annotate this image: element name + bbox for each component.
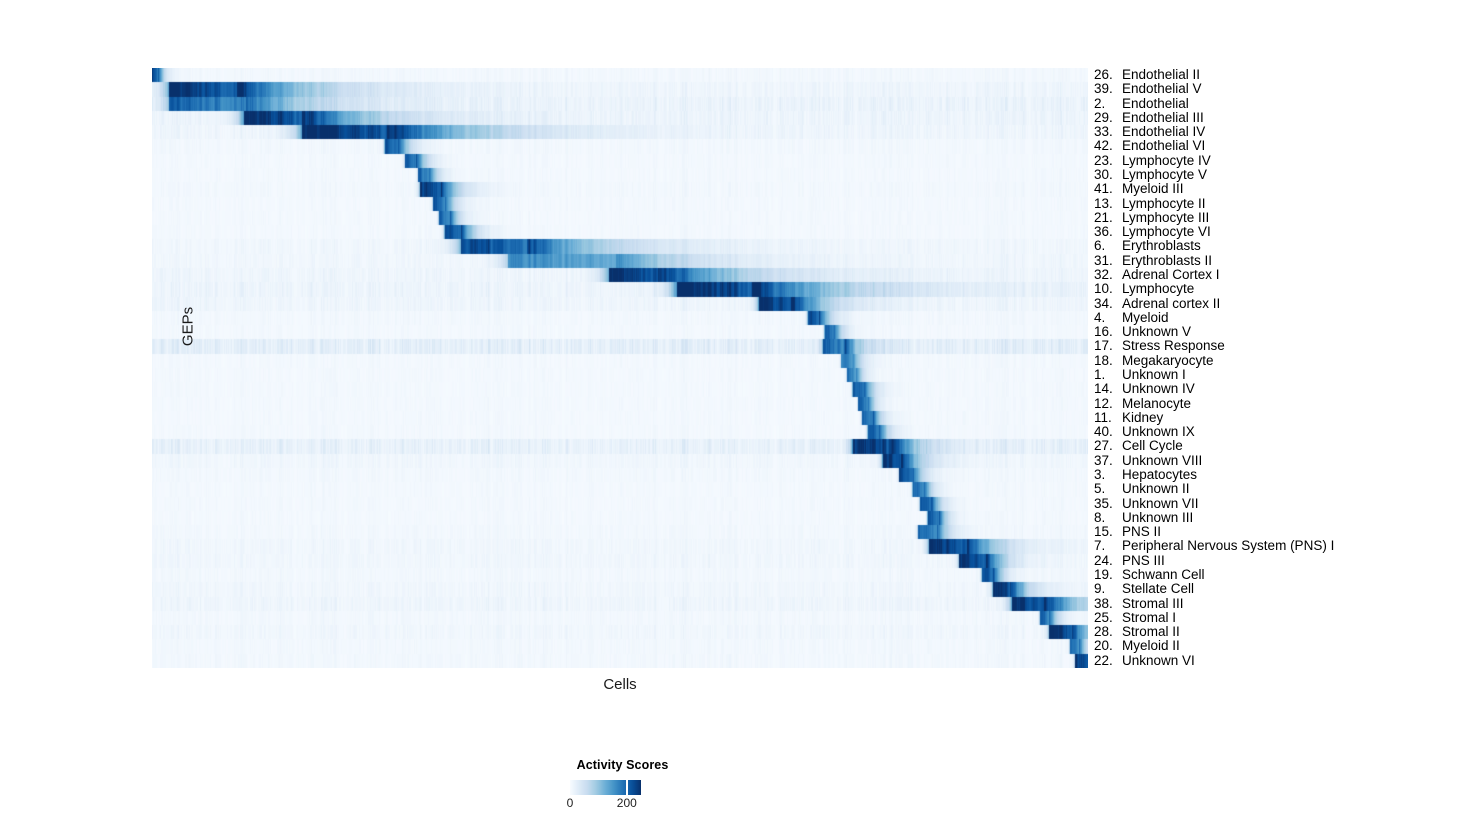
colorbar-gradient: [570, 780, 641, 795]
row-label: 23.Lymphocyte IV: [1094, 154, 1211, 168]
row-label: 9.Stellate Cell: [1094, 582, 1194, 596]
row-label-name: Myeloid II: [1122, 638, 1180, 653]
row-label: 41.Myeloid III: [1094, 182, 1184, 196]
row-label: 27.Cell Cycle: [1094, 439, 1183, 453]
row-label-name: Unknown II: [1122, 481, 1190, 496]
row-label-number: 26.: [1094, 68, 1118, 82]
row-label-number: 15.: [1094, 525, 1118, 539]
colorbar-tick-label: 0: [567, 796, 574, 810]
row-label-name: Stress Response: [1122, 338, 1225, 353]
row-label-name: Unknown VIII: [1122, 453, 1202, 468]
row-label: 5.Unknown II: [1094, 482, 1190, 496]
row-label-number: 37.: [1094, 454, 1118, 468]
row-label: 15.PNS II: [1094, 525, 1161, 539]
row-label: 17.Stress Response: [1094, 339, 1225, 353]
row-label-name: Schwann Cell: [1122, 567, 1205, 582]
row-label-number: 2.: [1094, 97, 1118, 111]
row-label-number: 13.: [1094, 197, 1118, 211]
row-label-number: 6.: [1094, 239, 1118, 253]
row-label: 10.Lymphocyte: [1094, 282, 1194, 296]
colorbar-tick-label: 200: [617, 796, 637, 810]
row-label: 12.Melanocyte: [1094, 397, 1191, 411]
row-label-name: Stromal I: [1122, 610, 1176, 625]
row-label: 4.Myeloid: [1094, 311, 1169, 325]
row-label: 30.Lymphocyte V: [1094, 168, 1207, 182]
colorbar-tick: [626, 780, 628, 795]
row-label-name: Lymphocyte: [1122, 281, 1194, 296]
row-label-number: 5.: [1094, 482, 1118, 496]
row-label-name: Lymphocyte IV: [1122, 153, 1211, 168]
row-label-name: Stellate Cell: [1122, 581, 1194, 596]
row-label: 38.Stromal III: [1094, 597, 1184, 611]
row-label-number: 32.: [1094, 268, 1118, 282]
colorbar-title: Activity Scores: [540, 758, 705, 772]
row-label-number: 27.: [1094, 439, 1118, 453]
row-label: 6.Erythroblasts: [1094, 239, 1201, 253]
row-label-number: 25.: [1094, 611, 1118, 625]
row-label-name: Melanocyte: [1122, 396, 1191, 411]
row-label-number: 42.: [1094, 139, 1118, 153]
row-label-name: Unknown IV: [1122, 381, 1195, 396]
colorbar-bar-wrap: [570, 780, 641, 795]
row-label-name: Unknown IX: [1122, 424, 1195, 439]
row-label-number: 12.: [1094, 397, 1118, 411]
colorbar-legend: Activity Scores 0200: [540, 758, 770, 813]
row-label: 32.Adrenal Cortex I: [1094, 268, 1220, 282]
row-label-name: Adrenal Cortex I: [1122, 267, 1220, 282]
row-label: 21.Lymphocyte III: [1094, 211, 1209, 225]
row-label-name: Lymphocyte II: [1122, 196, 1206, 211]
row-label: 2.Endothelial: [1094, 97, 1189, 111]
row-label: 34.Adrenal cortex II: [1094, 297, 1220, 311]
row-label-name: Hepatocytes: [1122, 467, 1197, 482]
row-label: 42.Endothelial VI: [1094, 139, 1205, 153]
row-label: 36.Lymphocyte VI: [1094, 225, 1211, 239]
row-label: 33.Endothelial IV: [1094, 125, 1205, 139]
row-label: 20.Myeloid II: [1094, 639, 1180, 653]
row-label-number: 31.: [1094, 254, 1118, 268]
row-label-number: 3.: [1094, 468, 1118, 482]
row-label-name: Stromal II: [1122, 624, 1180, 639]
row-label: 13.Lymphocyte II: [1094, 197, 1206, 211]
row-label-name: Endothelial: [1122, 96, 1189, 111]
row-label-number: 33.: [1094, 125, 1118, 139]
row-label-name: Endothelial VI: [1122, 138, 1205, 153]
row-label-number: 30.: [1094, 168, 1118, 182]
row-label: 29.Endothelial III: [1094, 111, 1204, 125]
row-label-name: PNS III: [1122, 553, 1165, 568]
row-label-number: 8.: [1094, 511, 1118, 525]
x-axis-label: Cells: [152, 676, 1088, 693]
row-label-number: 4.: [1094, 311, 1118, 325]
row-label: 22.Unknown VI: [1094, 654, 1195, 668]
row-label-number: 21.: [1094, 211, 1118, 225]
row-label-number: 35.: [1094, 497, 1118, 511]
row-label-name: Endothelial II: [1122, 67, 1200, 82]
row-label: 37.Unknown VIII: [1094, 454, 1202, 468]
heatmap-plot-area: [152, 68, 1088, 668]
row-label-number: 29.: [1094, 111, 1118, 125]
row-label-number: 11.: [1094, 411, 1118, 425]
row-label: 11.Kidney: [1094, 411, 1163, 425]
row-label-name: Unknown I: [1122, 367, 1186, 382]
row-label: 26.Endothelial II: [1094, 68, 1200, 82]
row-label-number: 28.: [1094, 625, 1118, 639]
row-label-name: Erythroblasts II: [1122, 253, 1212, 268]
row-label-number: 41.: [1094, 182, 1118, 196]
row-label-number: 40.: [1094, 425, 1118, 439]
row-label-name: PNS II: [1122, 524, 1161, 539]
row-label-number: 20.: [1094, 639, 1118, 653]
row-label-name: Cell Cycle: [1122, 438, 1183, 453]
row-label-name: Unknown III: [1122, 510, 1193, 525]
row-label-number: 17.: [1094, 339, 1118, 353]
row-label: 16.Unknown V: [1094, 325, 1191, 339]
row-label-number: 10.: [1094, 282, 1118, 296]
row-label-name: Peripheral Nervous System (PNS) I: [1122, 538, 1334, 553]
row-label-name: Endothelial V: [1122, 81, 1202, 96]
row-label-name: Megakaryocyte: [1122, 353, 1214, 368]
row-label-name: Kidney: [1122, 410, 1163, 425]
row-label-number: 34.: [1094, 297, 1118, 311]
row-label-name: Endothelial III: [1122, 110, 1204, 125]
row-label-list: 26.Endothelial II39.Endothelial V2.Endot…: [1094, 68, 1454, 668]
row-label: 19.Schwann Cell: [1094, 568, 1205, 582]
heatmap-figure: GEPs Cells 26.Endothelial II39.Endotheli…: [0, 0, 1457, 815]
row-label-number: 1.: [1094, 368, 1118, 382]
row-label: 40.Unknown IX: [1094, 425, 1195, 439]
row-label: 18.Megakaryocyte: [1094, 354, 1214, 368]
row-label: 7.Peripheral Nervous System (PNS) I: [1094, 539, 1334, 553]
row-label: 24.PNS III: [1094, 554, 1165, 568]
row-label-number: 24.: [1094, 554, 1118, 568]
row-label: 31.Erythroblasts II: [1094, 254, 1212, 268]
row-label-name: Unknown V: [1122, 324, 1191, 339]
row-label-name: Stromal III: [1122, 596, 1184, 611]
row-label-number: 7.: [1094, 539, 1118, 553]
row-label-name: Erythroblasts: [1122, 238, 1201, 253]
heatmap-image: [152, 68, 1088, 668]
row-label: 1.Unknown I: [1094, 368, 1186, 382]
row-label-number: 36.: [1094, 225, 1118, 239]
row-label-number: 39.: [1094, 82, 1118, 96]
row-label-name: Lymphocyte III: [1122, 210, 1209, 225]
row-label: 3.Hepatocytes: [1094, 468, 1197, 482]
row-label-name: Myeloid: [1122, 310, 1169, 325]
row-label-number: 14.: [1094, 382, 1118, 396]
row-label: 14.Unknown IV: [1094, 382, 1195, 396]
row-label-name: Myeloid III: [1122, 181, 1184, 196]
y-axis-label: GEPs: [180, 267, 197, 387]
row-label-name: Endothelial IV: [1122, 124, 1205, 139]
row-label-name: Lymphocyte V: [1122, 167, 1207, 182]
row-label-number: 18.: [1094, 354, 1118, 368]
row-label: 8.Unknown III: [1094, 511, 1193, 525]
row-label: 28.Stromal II: [1094, 625, 1180, 639]
row-label: 25.Stromal I: [1094, 611, 1176, 625]
row-label-name: Unknown VI: [1122, 653, 1195, 668]
row-label: 39.Endothelial V: [1094, 82, 1202, 96]
row-label-number: 16.: [1094, 325, 1118, 339]
row-label-number: 22.: [1094, 654, 1118, 668]
row-label-number: 38.: [1094, 597, 1118, 611]
row-label-number: 19.: [1094, 568, 1118, 582]
row-label: 35.Unknown VII: [1094, 497, 1199, 511]
row-label-name: Unknown VII: [1122, 496, 1199, 511]
row-label-name: Lymphocyte VI: [1122, 224, 1211, 239]
row-label-name: Adrenal cortex II: [1122, 296, 1220, 311]
row-label-number: 9.: [1094, 582, 1118, 596]
row-label-number: 23.: [1094, 154, 1118, 168]
